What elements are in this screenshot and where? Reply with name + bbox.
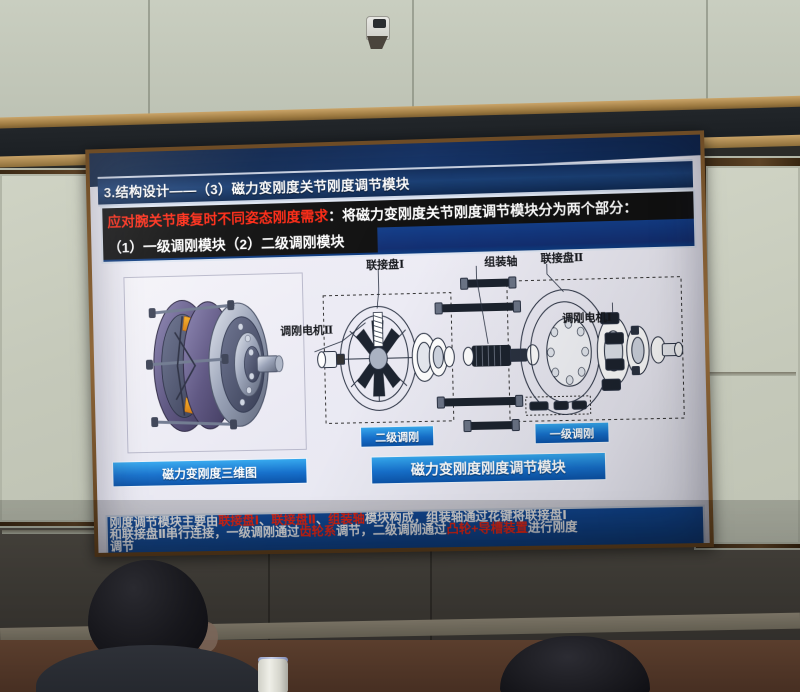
label-stiffness-motor-1: 调刚电机Ⅰ [562, 309, 612, 326]
wall-panel-seam [148, 0, 150, 132]
label-coupling-disc-2: 联接盘Ⅱ [540, 249, 583, 266]
label-assembly-shaft: 组装轴 [484, 253, 518, 270]
caption-level-two: 二级调刚 [360, 425, 434, 447]
para-highlight: 齿轮系 [299, 524, 336, 539]
presentation-slide: 3.结构设计——（3）磁力变刚度关节刚度调节模块 应对腕关节康复时不同姿态刚度需… [89, 135, 710, 553]
whiteboard-right [706, 166, 800, 544]
para-text: 调节，二级调刚通过 [336, 522, 447, 538]
lecture-hall-photo: 3.结构设计——（3）磁力变刚度关节刚度调节模块 应对腕关节康复时不同姿态刚度需… [0, 0, 800, 692]
projector-icon [364, 16, 392, 46]
para-text: 进行刚度 [528, 520, 578, 535]
callout-line2-text: （1）一级调刚模块（2）二级调刚模块 [103, 231, 345, 257]
projection-screen: 3.结构设计——（3）磁力变刚度关节刚度调节模块 应对腕关节康复时不同姿态刚度需… [89, 135, 710, 553]
para-highlight: 凸轮+导槽装置 [446, 521, 528, 536]
caption-level-one: 一级调刚 [534, 422, 609, 445]
slide-bottom-paragraph: 刚度调节模块主要由联接盘Ⅰ、联接盘Ⅱ、组装轴模块构成，组装轴通过花键将联接盘Ⅰ … [105, 505, 705, 553]
projection-screen-frame: 3.结构设计——（3）磁力变刚度关节刚度调节模块 应对腕关节康复时不同姿态刚度需… [85, 130, 714, 557]
page-title: 3.结构设计——（3）磁力变刚度关节刚度调节模块 [98, 173, 410, 202]
whiteboard-divider [2, 530, 100, 534]
callout-red-text: 应对腕关节康复时不同姿态刚度需求 [102, 205, 328, 231]
label-stiffness-motor-2: 调刚电机Ⅱ [280, 322, 333, 339]
projector-lens [373, 19, 386, 28]
slide-figure-area: 联接盘Ⅰ 组装轴 联接盘Ⅱ 调刚电机Ⅰ 调刚电机Ⅱ 磁力变刚度三维图 二级调刚 … [102, 248, 699, 513]
three-d-render-panel [123, 272, 306, 453]
thermos-cup [258, 659, 288, 692]
label-coupling-disc-1: 联接盘Ⅰ [366, 256, 404, 273]
caption-three-d-view: 磁力变刚度三维图 [112, 458, 308, 488]
magnetic-stiffness-3d-model [124, 273, 305, 452]
caption-adjustment-module: 磁力变刚度刚度调节模块 [371, 452, 607, 485]
whiteboard-divider [706, 372, 796, 376]
